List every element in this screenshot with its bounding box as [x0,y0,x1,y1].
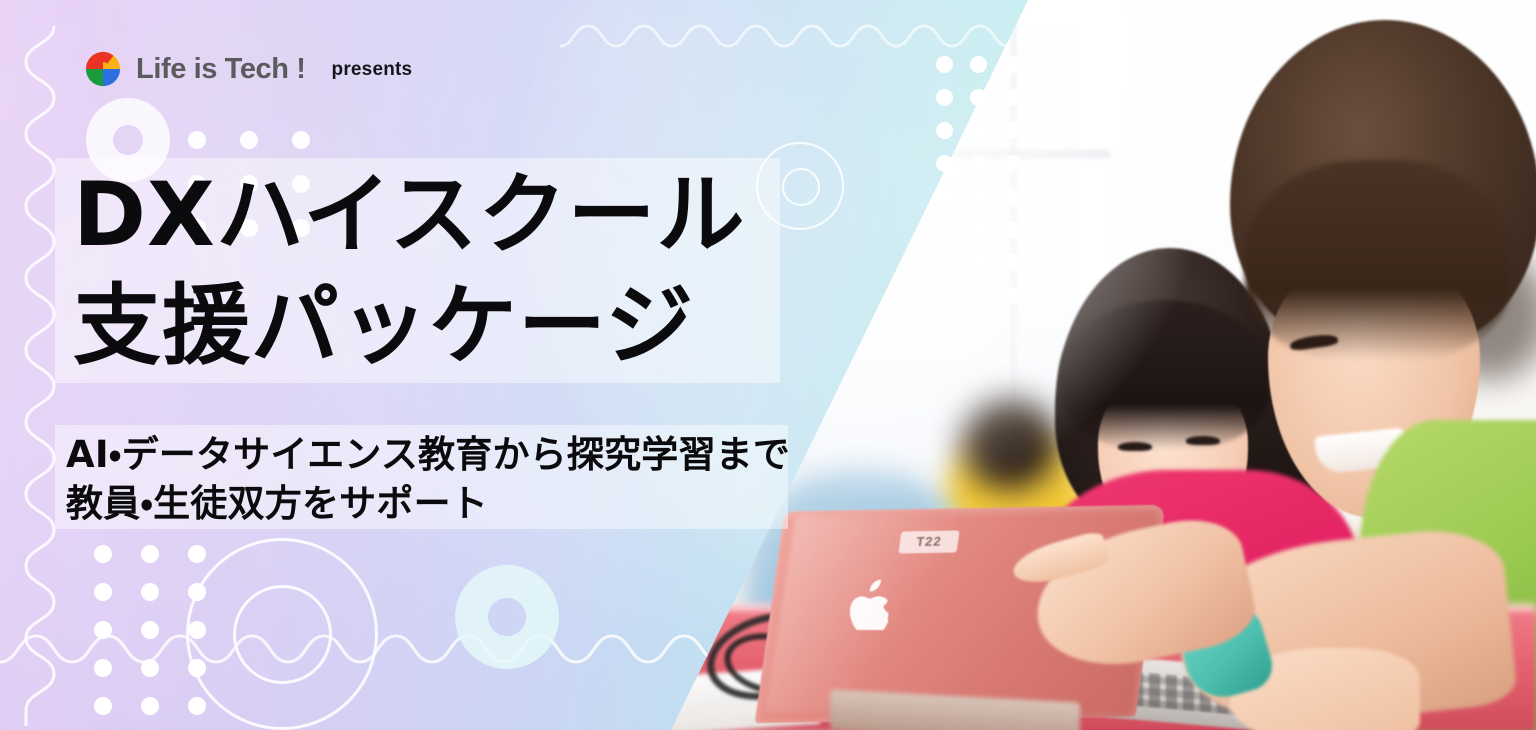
grid-dot [970,56,987,73]
grid-dot [1004,155,1021,172]
concentric-circles-icon [782,168,820,206]
grid-dot [1004,254,1021,271]
grid-dot [141,583,159,601]
grid-dot [94,659,112,677]
grid-dot [936,155,953,172]
grid-dot [970,89,987,106]
grid-dot [188,131,206,149]
page-title: DXハイスクール 支援パッケージ [73,160,746,382]
grid-dot [936,89,953,106]
apple-logo-icon [846,578,894,630]
dot-grid-icon [94,545,235,730]
grid-dot [141,545,159,563]
headline-line-1: DXハイスクール [73,160,746,271]
background-student-head [962,398,1058,490]
grid-dot [240,131,258,149]
brand-lockup: Life is Tech ! presents [84,50,412,88]
dot-grid-icon [936,56,1038,320]
grid-dot [188,583,206,601]
subheadline-line-2: 教員・生徒双方をサポート [66,479,790,528]
grid-dot [94,545,112,563]
grid-dot [188,545,206,563]
grid-dot [1004,188,1021,205]
laptop-sticker: T22 [898,530,959,553]
student-girl-bangs [1060,300,1270,450]
student-boy-bangs [1245,160,1510,360]
grid-dot [936,254,953,271]
grid-dot [936,188,953,205]
brand-wordmark: Life is Tech ! [136,55,306,84]
grid-dot [936,56,953,73]
grid-dot [94,697,112,715]
grid-dot [292,131,310,149]
subheadline-line-1: AI・データサイエンス教育から探究学習まで [66,430,790,479]
grid-dot [94,583,112,601]
life-is-tech-pinwheel-logo [84,50,122,88]
presents-label: presents [332,60,413,79]
grid-dot [141,621,159,639]
page-subtitle: AI・データサイエンス教育から探究学習まで 教員・生徒双方をサポート [66,430,790,528]
grid-dot [936,221,953,238]
concentric-circles-icon [233,585,332,684]
grid-dot [94,621,112,639]
grid-dot [141,697,159,715]
grid-dot [141,659,159,677]
grid-dot [1004,122,1021,139]
grid-dot [936,122,953,139]
grid-dot [1004,221,1021,238]
grid-dot [1004,89,1021,106]
grid-dot [936,287,953,304]
grid-dot [970,254,987,271]
grid-dot [970,287,987,304]
grid-dot [970,155,987,172]
grid-dot [1004,56,1021,73]
grid-dot [970,122,987,139]
grid-dot [188,659,206,677]
grid-dot [188,697,206,715]
student-girl-eye [1118,442,1152,451]
grid-dot [188,621,206,639]
grid-dot [1004,287,1021,304]
hero-banner: T22 [0,0,1536,730]
student-girl-eye [1186,436,1220,445]
headline-line-2: 支援パッケージ [73,271,746,382]
grid-dot [970,188,987,205]
donut-circle-icon [455,565,559,669]
grid-dot [970,221,987,238]
